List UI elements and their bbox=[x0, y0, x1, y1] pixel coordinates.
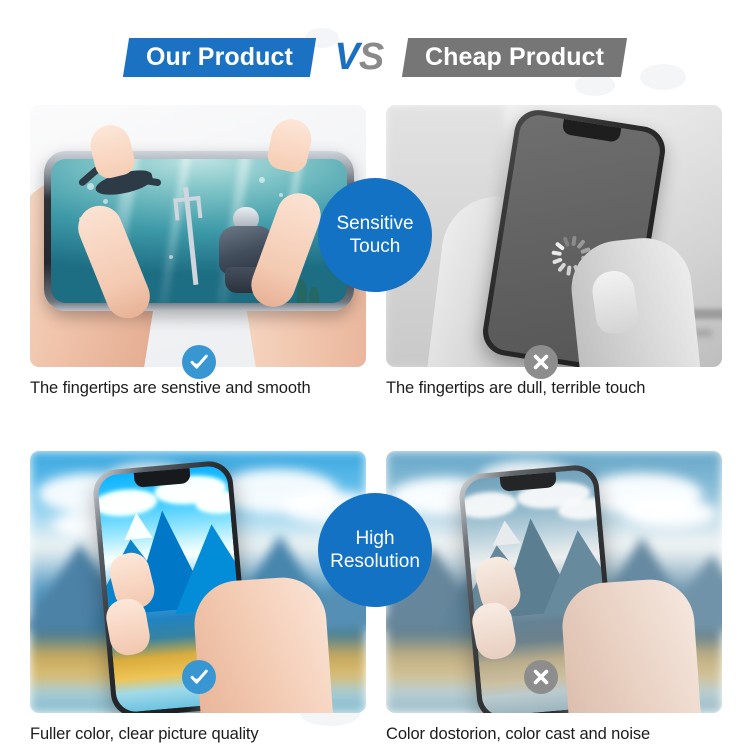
holding-hand bbox=[560, 577, 705, 713]
label-high-resolution: High Resolution bbox=[318, 493, 432, 607]
our-product-banner: Our Product bbox=[123, 38, 316, 77]
vs-separator: VS bbox=[331, 38, 388, 76]
panel-res-good: Fuller color, clear picture quality bbox=[30, 451, 366, 744]
photo-hands-phone-loading bbox=[386, 105, 722, 367]
photo-hands-phone-game bbox=[30, 105, 366, 367]
phone-notch bbox=[562, 119, 622, 143]
comparison-header: Our Product VS Cheap Product bbox=[0, 26, 750, 88]
right-hand bbox=[567, 233, 709, 367]
snow-cap bbox=[122, 512, 152, 540]
label-line-1: High bbox=[355, 527, 394, 550]
label-line-1: Sensitive bbox=[336, 212, 413, 235]
vs-letter-s: S bbox=[359, 36, 383, 78]
cheap-product-label: Cheap Product bbox=[425, 43, 604, 72]
snow-cap bbox=[491, 519, 521, 545]
verdict-badge-check bbox=[182, 660, 216, 694]
cross-icon bbox=[531, 352, 551, 372]
label-line-2: Touch bbox=[350, 235, 401, 258]
vs-letter-v: V bbox=[335, 36, 359, 78]
our-product-label: Our Product bbox=[146, 43, 293, 72]
verdict-badge-check bbox=[182, 345, 216, 379]
check-icon bbox=[188, 666, 210, 688]
label-sensitive-touch: Sensitive Touch bbox=[318, 178, 432, 292]
trident-icon bbox=[185, 201, 199, 285]
check-icon bbox=[188, 351, 210, 373]
verdict-badge-cross bbox=[524, 660, 558, 694]
caption-touch-bad: The fingertips are dull, terrible touch bbox=[386, 379, 722, 398]
caption-touch-good: The fingertips are senstive and smooth bbox=[30, 379, 366, 398]
panel-res-bad: Color dostorion, color cast and noise bbox=[386, 451, 722, 744]
verdict-badge-cross bbox=[524, 345, 558, 379]
holding-hand bbox=[192, 575, 337, 713]
caption-res-good: Fuller color, clear picture quality bbox=[30, 725, 366, 744]
caption-res-bad: Color dostorion, color cast and noise bbox=[386, 725, 722, 744]
label-line-2: Resolution bbox=[330, 550, 420, 573]
cheap-product-banner: Cheap Product bbox=[402, 38, 627, 77]
cross-icon bbox=[531, 667, 551, 687]
